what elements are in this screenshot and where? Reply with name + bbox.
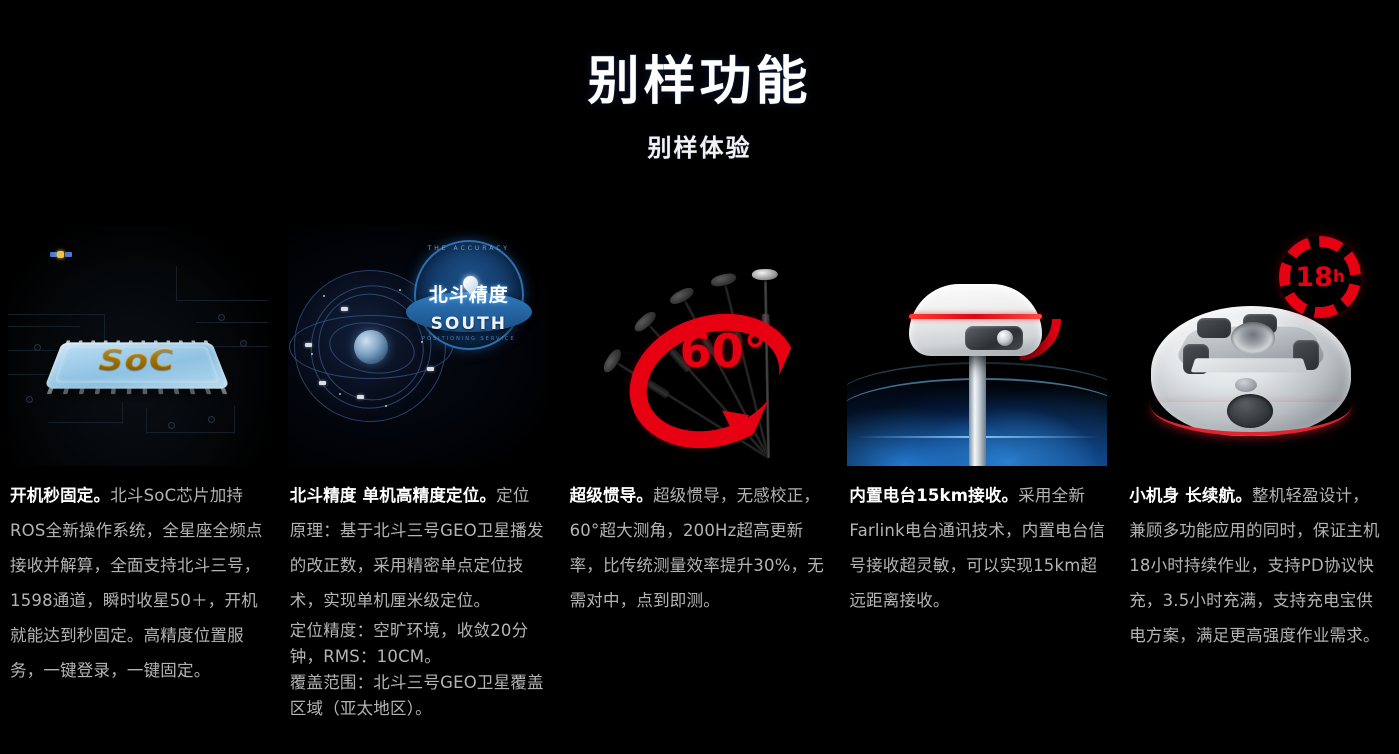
badge-arc-top-text: THE ACCURACY bbox=[414, 245, 524, 252]
satellite-icon bbox=[50, 250, 72, 259]
receiver-screen bbox=[965, 326, 1023, 350]
receiver-speaker bbox=[1227, 394, 1273, 428]
feature-lead: 开机秒固定。 bbox=[10, 486, 110, 505]
product-label-sticker bbox=[1191, 358, 1308, 372]
feature-paragraph: 内置电台15km接收。采用全新Farlink电台通讯技术，内置电台信号接收超灵敏… bbox=[849, 478, 1105, 618]
feature-body: 北斗SoC芯片加持ROS全新操作系统，全星座全频点接收并解算，全面支持北斗三号，… bbox=[10, 486, 263, 680]
feature-paragraph: 超级惯导。超级惯导，无感校正，60°超大测角，200Hz超高更新率，比传统测量效… bbox=[570, 478, 826, 618]
feature-columns: SoC 开机秒固定。北斗SoC芯片加持ROS全新操作系统，全星座全频点接收并解算… bbox=[0, 222, 1399, 754]
feature-showcase-page: 别样功能 别样体验 bbox=[0, 0, 1399, 754]
badge-arc-bottom-text: POSITIONING SERVICE bbox=[414, 336, 524, 342]
page-subtitle: 别样体验 bbox=[0, 136, 1399, 160]
feature-extra-line: 定位精度：空旷环境，收敛20分钟，RMS：10CM。 bbox=[290, 618, 546, 670]
feature-caption-1: 开机秒固定。北斗SoC芯片加持ROS全新操作系统，全星座全频点接收并解算，全面支… bbox=[10, 478, 266, 688]
tripod-thread bbox=[1231, 322, 1275, 354]
feature-extra-line: 覆盖范围：北斗三号GEO卫星覆盖区域（亚太地区）。 bbox=[290, 670, 546, 722]
receiver-underside-battery-life-illustration: 18h bbox=[1127, 226, 1387, 466]
angle-label: 60° bbox=[680, 324, 767, 378]
battery-life-text: 18h bbox=[1279, 236, 1361, 318]
battery-life-value: 18 bbox=[1295, 262, 1333, 293]
feature-caption-5: 小机身 长续航。整机轻盈设计，兼顾多功能应用的同时，保证主机18小时持续作业，支… bbox=[1129, 478, 1385, 653]
feature-column-5: 18h 小机身 长续航。整机轻盈设计，兼顾多功能应用的同时，保证主机18小时持续… bbox=[1119, 222, 1399, 754]
beidou-constellation-badge-illustration: THE ACCURACY 北斗精度 SOUTH POSITIONING SERV… bbox=[288, 226, 548, 466]
tilt-survey-pole-60-degree-illustration: 60° bbox=[568, 226, 828, 466]
feature-column-3: 60° 超级惯导。超级惯导，无感校正，60°超大测角，200Hz超高更新率，比传… bbox=[560, 222, 840, 754]
feature-caption-4: 内置电台15km接收。采用全新Farlink电台通讯技术，内置电台信号接收超灵敏… bbox=[849, 478, 1105, 618]
south-accuracy-badge: THE ACCURACY 北斗精度 SOUTH POSITIONING SERV… bbox=[406, 240, 532, 362]
feature-paragraph: 开机秒固定。北斗SoC芯片加持ROS全新操作系统，全星座全频点接收并解算，全面支… bbox=[10, 478, 266, 688]
feature-caption-2: 北斗精度 单机高精度定位。定位原理：基于北斗三号GEO卫星播发的改正数，采用精密… bbox=[290, 478, 546, 722]
feature-column-4: 内置电台15km接收。采用全新Farlink电台通讯技术，内置电台信号接收超灵敏… bbox=[839, 222, 1119, 754]
badge-brand-text: SOUTH bbox=[414, 314, 524, 334]
battery-life-unit: h bbox=[1333, 267, 1345, 287]
feature-lead: 北斗精度 单机高精度定位。 bbox=[290, 486, 496, 505]
feature-lead: 内置电台15km接收。 bbox=[849, 486, 1018, 505]
feature-column-2: THE ACCURACY 北斗精度 SOUTH POSITIONING SERV… bbox=[280, 222, 560, 754]
soc-chip-illustration: SoC bbox=[8, 226, 268, 466]
base-pad bbox=[1197, 318, 1231, 338]
feature-body: 整机轻盈设计，兼顾多功能应用的同时，保证主机18小时持续作业，支持PD协议快充，… bbox=[1129, 486, 1380, 645]
earth-globe bbox=[354, 330, 388, 364]
feature-paragraph: 北斗精度 单机高精度定位。定位原理：基于北斗三号GEO卫星播发的改正数，采用精密… bbox=[290, 478, 546, 618]
receiver-red-stripe bbox=[909, 314, 1042, 319]
feature-lead: 小机身 长续航。 bbox=[1129, 486, 1252, 505]
chip-soc-label: SoC bbox=[50, 343, 224, 378]
feature-paragraph: 小机身 长续航。整机轻盈设计，兼顾多功能应用的同时，保证主机18小时持续作业，支… bbox=[1129, 478, 1385, 653]
battery-life-badge: 18h bbox=[1279, 236, 1361, 318]
page-header: 别样功能 别样体验 bbox=[0, 0, 1399, 160]
feature-caption-3: 超级惯导。超级惯导，无感校正，60°超大测角，200Hz超高更新率，比传统测量效… bbox=[570, 478, 826, 618]
page-title: 别样功能 bbox=[0, 56, 1399, 108]
pole-stem bbox=[969, 346, 986, 466]
feature-lead: 超级惯导。 bbox=[570, 486, 654, 505]
feature-column-1: SoC 开机秒固定。北斗SoC芯片加持ROS全新操作系统，全星座全频点接收并解算… bbox=[0, 222, 280, 754]
gnss-receiver-radio-signal-illustration bbox=[847, 226, 1107, 466]
